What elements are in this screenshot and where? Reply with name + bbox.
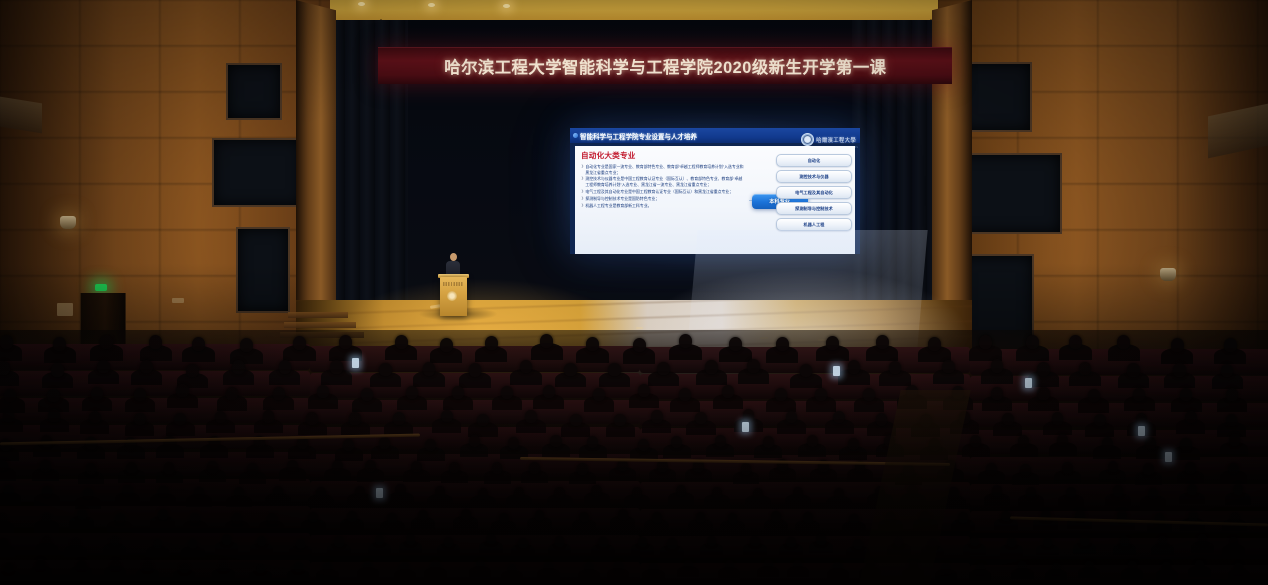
audience-head <box>0 513 7 524</box>
audience-head <box>365 460 376 472</box>
audience-head <box>638 537 647 547</box>
audience-head <box>452 386 464 399</box>
audience-head <box>478 488 488 499</box>
audience-head <box>174 413 186 426</box>
audience-head <box>140 360 153 374</box>
university-crest-icon <box>447 291 457 301</box>
ceiling-light <box>358 2 365 6</box>
audience-head <box>763 436 774 448</box>
audience-head <box>1043 537 1052 547</box>
audience-head <box>1230 512 1240 523</box>
audience-head <box>207 461 218 473</box>
slide-header-title: 智能科学与工程学院专业设置与人才培养 <box>580 131 697 141</box>
audience-head <box>1234 563 1243 573</box>
audience-head <box>226 387 238 400</box>
audience-head <box>775 388 787 401</box>
audience-head <box>1002 413 1014 426</box>
audience-head <box>1069 335 1082 349</box>
phone-screen <box>376 488 383 498</box>
audience-head <box>296 539 305 549</box>
audience-head <box>771 511 781 522</box>
audience-head <box>633 338 646 352</box>
audience-head <box>554 487 564 498</box>
audience-head <box>776 337 789 351</box>
audience-head <box>518 538 527 548</box>
audience-head <box>316 487 326 498</box>
audience-head <box>540 334 553 348</box>
audience-head <box>83 488 93 499</box>
audience-head <box>764 559 773 569</box>
audience-head <box>234 487 244 498</box>
audience-head <box>696 512 706 523</box>
audience-head <box>750 536 759 546</box>
audience-head <box>1171 338 1184 352</box>
audience-head <box>361 388 373 401</box>
audience-head <box>40 460 51 472</box>
audience-head <box>1052 563 1061 573</box>
major-pill-measurement[interactable]: 测控技术与仪器 <box>776 170 852 183</box>
podium <box>440 277 467 316</box>
phone-screen <box>352 358 359 368</box>
audience-head <box>77 560 86 570</box>
audience-head <box>743 409 755 422</box>
audience-head <box>89 411 101 424</box>
auditorium-scene: 哈尔滨工程大学智能科学与工程学院2020级新生开学第一课 智能科学与工程学院专业… <box>0 0 1268 585</box>
audience-head <box>1037 387 1049 400</box>
audience-head <box>219 562 228 572</box>
audience-head <box>786 537 795 547</box>
audience-head <box>1117 335 1130 349</box>
blue-diamond-icon <box>573 133 578 138</box>
audience-head <box>1079 362 1092 376</box>
audience-head <box>679 388 691 401</box>
audience-head <box>958 512 968 523</box>
audience-head <box>543 385 555 398</box>
audience-head <box>423 362 436 376</box>
audience-head <box>492 462 503 474</box>
audience-head <box>1094 414 1106 427</box>
audience-head <box>715 435 726 447</box>
audience-head <box>1226 388 1238 401</box>
audience-head <box>406 386 418 399</box>
audience-head <box>469 435 480 447</box>
slide-bullet-text: 电气工程及其自动化专业是中国工程教育认证专业（国际互认）和黑龙江省重点专业； <box>585 189 745 195</box>
audience-head <box>976 563 985 573</box>
audience-head <box>651 410 663 423</box>
audience-head <box>0 335 13 349</box>
audience-head <box>1233 484 1243 495</box>
audience-head <box>418 510 428 521</box>
audience-head <box>803 512 813 523</box>
audience-head <box>232 360 245 374</box>
audience-head <box>431 560 440 570</box>
phone-screen <box>833 366 840 376</box>
audience-head <box>158 486 168 497</box>
audience-head <box>525 410 537 423</box>
audience-head <box>134 388 146 401</box>
audience-head <box>1108 461 1119 473</box>
audience-head <box>158 509 168 520</box>
audience-head <box>1018 435 1029 447</box>
podium-lettering <box>443 282 464 286</box>
audience-head <box>36 559 45 569</box>
audience-head <box>100 335 113 349</box>
audience-head <box>499 513 509 524</box>
audience-head <box>485 336 498 350</box>
audience-head <box>1145 437 1156 449</box>
audience-head <box>1188 511 1198 522</box>
audience-head <box>826 336 839 350</box>
audience-head <box>1113 485 1123 496</box>
audience-head <box>608 363 621 377</box>
audience-head <box>741 463 752 475</box>
logo-name-cn: 哈爾濱工程大學 <box>816 138 856 144</box>
audience-head <box>1148 488 1158 499</box>
audience-head <box>0 538 8 548</box>
audience-head <box>876 413 888 426</box>
audience-head <box>1158 536 1167 546</box>
audience-head <box>593 388 605 401</box>
audience-head <box>393 412 405 425</box>
audience-head <box>535 510 545 521</box>
audience-head <box>263 410 275 423</box>
audience-head <box>657 362 670 376</box>
audience-head <box>992 485 1002 496</box>
audience-head <box>1062 462 1073 474</box>
audience-head <box>1180 388 1192 401</box>
proscenium-left <box>296 0 336 340</box>
bullet-marker-icon: ❯ <box>581 189 584 195</box>
audience-head <box>1198 534 1207 544</box>
audience-head <box>684 560 693 570</box>
audience-head <box>614 414 626 427</box>
audience-head <box>1221 364 1234 378</box>
audience-head <box>1226 414 1238 427</box>
slide-section-title: 自动化大类专业 <box>581 150 746 161</box>
audience-head <box>1136 413 1148 426</box>
audience-head <box>42 536 51 546</box>
audience-head <box>1102 437 1113 449</box>
audience-head <box>848 360 861 374</box>
audience-head <box>379 437 390 449</box>
audience-head <box>676 485 686 496</box>
audience-head <box>126 462 137 474</box>
audience-head <box>979 335 992 349</box>
slide-header: 智能科学与工程学院专业设置与人才培养 哈爾濱工程大學 HARBIN ENGINE… <box>570 128 860 143</box>
audience-head <box>970 435 981 447</box>
audience-head <box>638 439 649 451</box>
audience-head <box>143 561 152 571</box>
audience-head <box>232 513 242 524</box>
phone-screen <box>1025 378 1032 388</box>
audience-head <box>47 389 59 402</box>
audience-head <box>585 562 594 572</box>
audience-head <box>48 409 60 422</box>
audience-head <box>800 364 813 378</box>
audience-head <box>441 410 453 423</box>
bullet-marker-icon: ❯ <box>581 203 584 209</box>
audience-head <box>42 513 52 524</box>
audience-head <box>4 389 16 402</box>
audience-head <box>942 360 955 374</box>
audience-head <box>1052 412 1064 425</box>
phone-screen <box>742 422 749 432</box>
audience-head <box>194 487 204 498</box>
audience-head <box>889 361 902 375</box>
audience-head <box>3 485 13 496</box>
audience-head <box>1224 338 1237 352</box>
audience-head <box>192 337 205 351</box>
slide-bullet: ❯ 探测制导与控制技术专业是国防特色专业； <box>581 196 746 202</box>
audience-head <box>215 411 227 424</box>
audience-head <box>256 564 265 574</box>
audience-head <box>86 463 97 475</box>
audience-head <box>747 359 760 373</box>
audience-head <box>349 412 361 425</box>
audience-head <box>1066 487 1076 498</box>
audience-head <box>387 513 397 524</box>
audience-head <box>273 387 285 400</box>
audience-head <box>279 360 292 374</box>
stage-step <box>284 322 356 328</box>
audience-head <box>1229 537 1238 547</box>
audience-head <box>180 563 189 573</box>
audience-head <box>306 412 318 425</box>
audience-head <box>657 460 668 472</box>
slide-bullet-text: 探测制导与控制技术专业是国防特色专业； <box>585 196 745 202</box>
bullet-marker-icon: ❯ <box>581 196 584 202</box>
audience-head <box>555 536 564 546</box>
audience-head <box>948 487 958 498</box>
audience-head <box>598 537 607 547</box>
audience-head <box>501 386 513 399</box>
audience-head <box>122 485 132 496</box>
audience-head <box>529 462 540 474</box>
bullet-marker-icon: ❯ <box>581 164 584 175</box>
speaker-head <box>450 253 457 261</box>
audience-head <box>395 335 408 349</box>
event-banner: 哈尔滨工程大学智能科学与工程学院2020级新生开学第一课 <box>378 47 952 84</box>
audience-head <box>833 562 842 572</box>
slide-bullet: ❯ 机器人工程专业是教育部新工科专业。 <box>581 203 746 209</box>
audience-head <box>240 338 253 352</box>
audience-head <box>671 436 682 448</box>
audience-head <box>176 384 188 397</box>
audience-head <box>863 388 875 401</box>
audience-head <box>849 514 859 525</box>
audience-head <box>379 363 392 377</box>
audience-head <box>343 439 354 451</box>
audience-head <box>941 563 950 573</box>
audience-head <box>188 539 197 549</box>
audience-head <box>807 435 818 447</box>
audience-head <box>705 360 718 374</box>
audience-head <box>638 384 650 397</box>
audience-head <box>110 536 119 546</box>
audience-head <box>579 512 589 523</box>
audience-head <box>514 487 524 498</box>
audience-head <box>486 534 495 544</box>
audience-head <box>1162 562 1171 572</box>
audience-head <box>339 335 352 349</box>
audience-head <box>1026 487 1036 498</box>
audience-head <box>115 513 125 524</box>
major-pill-automation[interactable]: 自动化 <box>776 154 852 167</box>
audience-head <box>1120 536 1129 546</box>
major-pill-electrical[interactable]: 电气工程及其自动化 <box>776 186 852 199</box>
audience-head <box>570 414 582 427</box>
audience-head <box>323 562 332 572</box>
audience-head <box>440 338 453 352</box>
audience-head <box>461 509 471 520</box>
audience-head <box>1229 434 1240 446</box>
audience-head <box>186 364 199 378</box>
audience-head <box>444 537 453 547</box>
audience-head <box>1128 561 1137 571</box>
slide-bullet-text: 自动化专业是国家一流专业、教育部特色专业、教育部“卓越工程师教育培养计划”入选专… <box>585 164 745 175</box>
floor-marker <box>636 327 643 329</box>
audience-head <box>247 463 258 475</box>
audience-head <box>1195 560 1204 570</box>
audience-head <box>577 463 588 475</box>
audience-head <box>853 539 862 549</box>
audience-head <box>725 560 734 570</box>
audience-head <box>816 534 825 544</box>
audience-head <box>520 360 533 374</box>
audience-head <box>53 337 66 351</box>
audience-head <box>1143 463 1154 475</box>
audience-head <box>273 486 283 497</box>
audience-head <box>347 511 357 522</box>
audience-head <box>293 336 306 350</box>
audience-head <box>1127 363 1140 377</box>
phone-screen <box>1165 452 1172 462</box>
ceiling-light <box>503 4 510 8</box>
audience-head <box>632 487 642 498</box>
audience-head <box>476 560 485 570</box>
audience-head <box>649 563 658 573</box>
audience-head <box>1228 463 1239 475</box>
audience-head <box>330 360 343 374</box>
audience-head <box>411 461 422 473</box>
audience-head <box>1133 388 1145 401</box>
audience-head <box>355 486 365 497</box>
audience-head <box>876 335 889 349</box>
audience-head <box>1173 363 1186 377</box>
stage-step <box>288 312 348 318</box>
audience-head <box>652 512 662 523</box>
audience-head <box>667 538 676 548</box>
audience-head <box>586 337 599 351</box>
audience-head <box>508 437 519 449</box>
audience-head <box>712 487 722 498</box>
audience-head <box>51 363 64 377</box>
audience-head <box>928 337 941 351</box>
audience-head <box>294 562 303 572</box>
audience-head <box>834 488 844 499</box>
audience-head <box>190 513 200 524</box>
university-seal-icon <box>801 133 814 146</box>
audience-head <box>332 460 343 472</box>
audience-head <box>71 538 80 548</box>
slide-bullet: ❯ 电气工程及其自动化专业是中国工程教育认证专业（国际互认）和黑龙江省重点专业； <box>581 189 746 195</box>
audience-head <box>793 487 803 498</box>
audience-head <box>425 439 436 451</box>
audience-head <box>1085 561 1094 571</box>
audience-head <box>1185 411 1197 424</box>
audience-area <box>0 330 1268 585</box>
audience-head <box>1037 362 1050 376</box>
audience-head <box>786 411 798 424</box>
audience-head <box>0 361 10 375</box>
audience-head <box>42 486 52 497</box>
audience-head <box>1080 535 1089 545</box>
audience-head <box>587 436 598 448</box>
ceiling-light <box>428 3 435 7</box>
audience-head <box>986 463 997 475</box>
audience-head <box>257 536 266 546</box>
audience-head <box>1088 389 1100 402</box>
audience-head <box>222 534 231 544</box>
audience-head <box>477 414 489 427</box>
major-pill-guidance[interactable]: 探测制导与控制技术 <box>776 202 852 215</box>
audience-head <box>729 337 742 351</box>
audience-head <box>469 363 482 377</box>
audience-head <box>991 359 1004 373</box>
audience-head <box>618 509 628 520</box>
audience-head <box>1187 484 1197 495</box>
audience-head <box>153 539 162 549</box>
audience-head <box>833 411 845 424</box>
slide-bullet: ❯ 测控技术与仪器专业是中国工程教育认证专业（国际互认）、教育部特色专业、教育部… <box>581 176 746 187</box>
audience-head <box>550 435 561 447</box>
audience-head <box>544 562 553 572</box>
audience-head <box>4 563 13 573</box>
audience-head <box>400 562 409 572</box>
audience-head <box>267 513 277 524</box>
audience-head <box>707 536 716 546</box>
audience-head <box>0 460 8 472</box>
audience-head <box>435 486 445 497</box>
audience-head <box>406 534 415 544</box>
audience-head <box>815 388 827 401</box>
audience-head <box>1018 561 1027 571</box>
audience-head <box>134 413 146 426</box>
audience-head <box>77 509 87 520</box>
audience-head <box>3 409 15 422</box>
audience-head <box>728 513 738 524</box>
banner-text: 哈尔滨工程大学智能科学与工程学院2020级新生开学第一课 <box>444 54 886 78</box>
phone-screen <box>1138 426 1145 436</box>
audience-head <box>1180 438 1191 450</box>
audience-head <box>848 438 859 450</box>
audience-head <box>722 385 734 398</box>
audience-head <box>164 462 175 474</box>
audience-head <box>395 484 405 495</box>
audience-head <box>287 460 298 472</box>
bullet-marker-icon: ❯ <box>581 176 584 187</box>
audience-head <box>317 385 329 398</box>
audience-head <box>753 488 763 499</box>
audience-head <box>91 387 103 400</box>
audience-head <box>695 412 707 425</box>
audience-head <box>614 561 623 571</box>
audience-head <box>591 485 601 496</box>
slide-bullet-text: 机器人工程专业是教育部新工科专业。 <box>585 203 745 209</box>
audience-head <box>1020 464 1031 476</box>
audience-head <box>1026 335 1039 349</box>
audience-head <box>564 363 577 377</box>
